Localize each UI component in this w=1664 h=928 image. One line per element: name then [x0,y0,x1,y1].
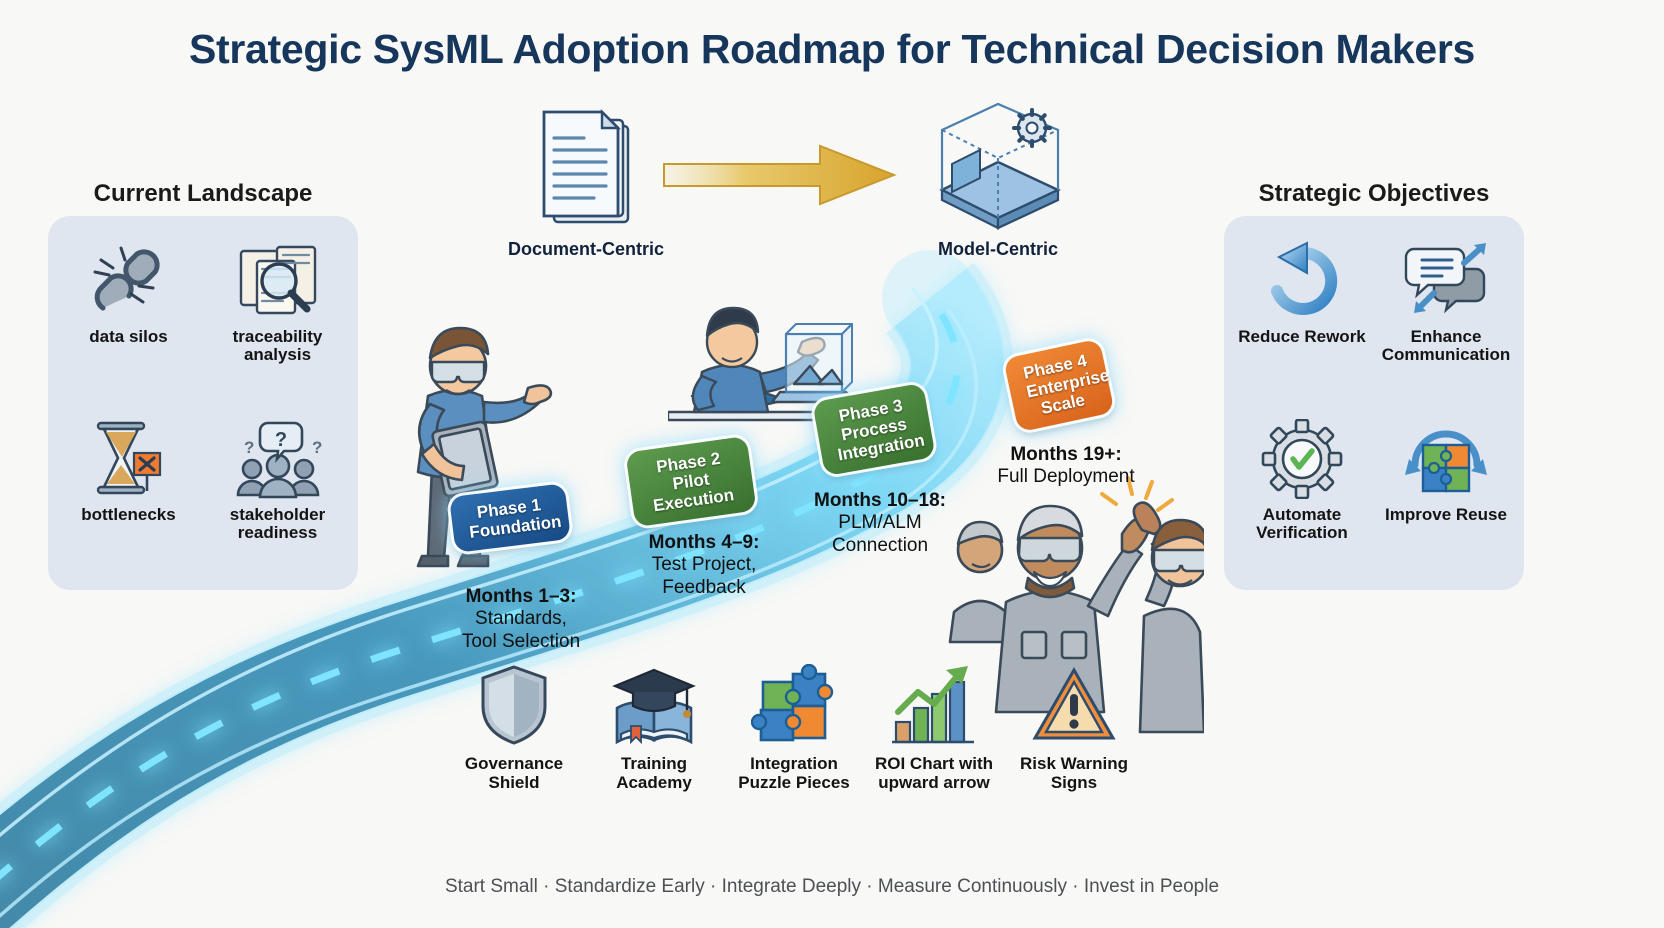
phase-2-timeline-sub: Test Project,Feedback [634,554,774,599]
landscape-item-data-silos: data silos [54,228,203,406]
footer-tagline: Start Small · Standardize Early · Integr… [0,876,1664,898]
infographic-canvas: Strategic SysML Adoption Roadmap for Tec… [0,0,1664,928]
phase-3-timeline-sub: PLM/ALMConnection [806,512,954,557]
objective-item-improve-reuse: Improve Reuse [1374,406,1518,584]
page-title: Strategic SysML Adoption Roadmap for Tec… [0,26,1664,73]
document-stack-icon [488,106,684,230]
document-centric-label: Document-Centric [488,239,684,260]
objective-item-automate-verification: Automate Verification [1230,406,1374,584]
enabler-icon-row: Governance Shield Training Academy [448,664,1140,792]
graduation-book-icon [611,664,697,746]
objective-item-enhance-communication: Enhance Communication [1374,228,1518,406]
phase-1-timeline-head: Months 1–3: [446,586,596,608]
phase-2-timeline-head: Months 4–9: [634,532,774,554]
landscape-label: stakeholder readiness [208,506,348,543]
phase-1-timeline: Months 1–3: Standards,Tool Selection [446,586,596,653]
phase-3-timeline: Months 10–18: PLM/ALMConnection [806,490,954,557]
model-centric-label: Model-Centric [880,239,1116,260]
enabler-integration-puzzle: Integration Puzzle Pieces [728,664,860,792]
shield-icon [477,664,551,746]
strategic-objectives-panel: Strategic Objectives Reduce Rework [1224,216,1524,590]
people-question-icon: ? ? ? [232,416,324,502]
landscape-label: bottlenecks [81,506,175,524]
strategic-objectives-title: Strategic Objectives [1224,180,1524,208]
landscape-item-stakeholder: ? ? ? stakeholder readiness [203,406,352,584]
puzzle-pieces-icon [751,664,837,746]
phase-3-timeline-head: Months 10–18: [806,490,954,512]
current-landscape-panel: Current Landscape [48,216,358,590]
hourglass-blocked-icon [86,416,172,502]
model-centric-node: Model-Centric [880,100,1116,260]
objective-label: Reduce Rework [1238,328,1366,346]
undo-arrow-icon [1259,238,1345,324]
phase-4-timeline-head: Months 19+: [986,444,1146,466]
landscape-item-traceability: traceability analysis [203,228,352,406]
gear-check-icon [1259,416,1345,502]
phase-4-timeline: Months 19+: Full Deployment [986,444,1146,489]
document-centric-node: Document-Centric [488,106,684,260]
enabler-label: ROI Chart with upward arrow [868,754,1000,792]
enabler-governance-shield: Governance Shield [448,664,580,792]
landscape-label: data silos [89,328,167,346]
warning-triangle-icon [1031,664,1117,746]
objective-item-reduce-rework: Reduce Rework [1230,228,1374,406]
model-cube-icon [880,100,1116,230]
enabler-label: Governance Shield [448,754,580,792]
phase-1-timeline-sub: Standards,Tool Selection [446,608,596,653]
objective-label: Improve Reuse [1385,506,1507,524]
enabler-risk-warning: Risk Warning Signs [1008,664,1140,792]
enabler-label: Integration Puzzle Pieces [728,754,860,792]
speech-bubbles-icon [1400,238,1492,324]
puzzle-recycle-icon [1401,416,1491,502]
objective-label: Enhance Communication [1376,328,1516,365]
landscape-item-bottlenecks: bottlenecks [54,406,203,584]
landscape-label: traceability analysis [208,328,348,365]
magnifier-documents-icon [235,238,321,324]
enabler-label: Risk Warning Signs [1008,754,1140,792]
phase-2-timeline: Months 4–9: Test Project,Feedback [634,532,774,599]
broken-chain-icon [87,238,171,324]
objective-label: Automate Verification [1232,506,1372,543]
svg-text:?: ? [244,438,254,457]
right-arrow-icon [660,138,900,212]
enabler-roi-chart: ROI Chart with upward arrow [868,664,1000,792]
svg-text:?: ? [274,429,286,451]
svg-text:?: ? [312,438,322,457]
phase-4-timeline-sub: Full Deployment [986,466,1146,488]
current-landscape-title: Current Landscape [48,180,358,208]
enabler-training-academy: Training Academy [588,664,720,792]
bar-chart-up-icon [888,664,980,746]
enabler-label: Training Academy [588,754,720,792]
